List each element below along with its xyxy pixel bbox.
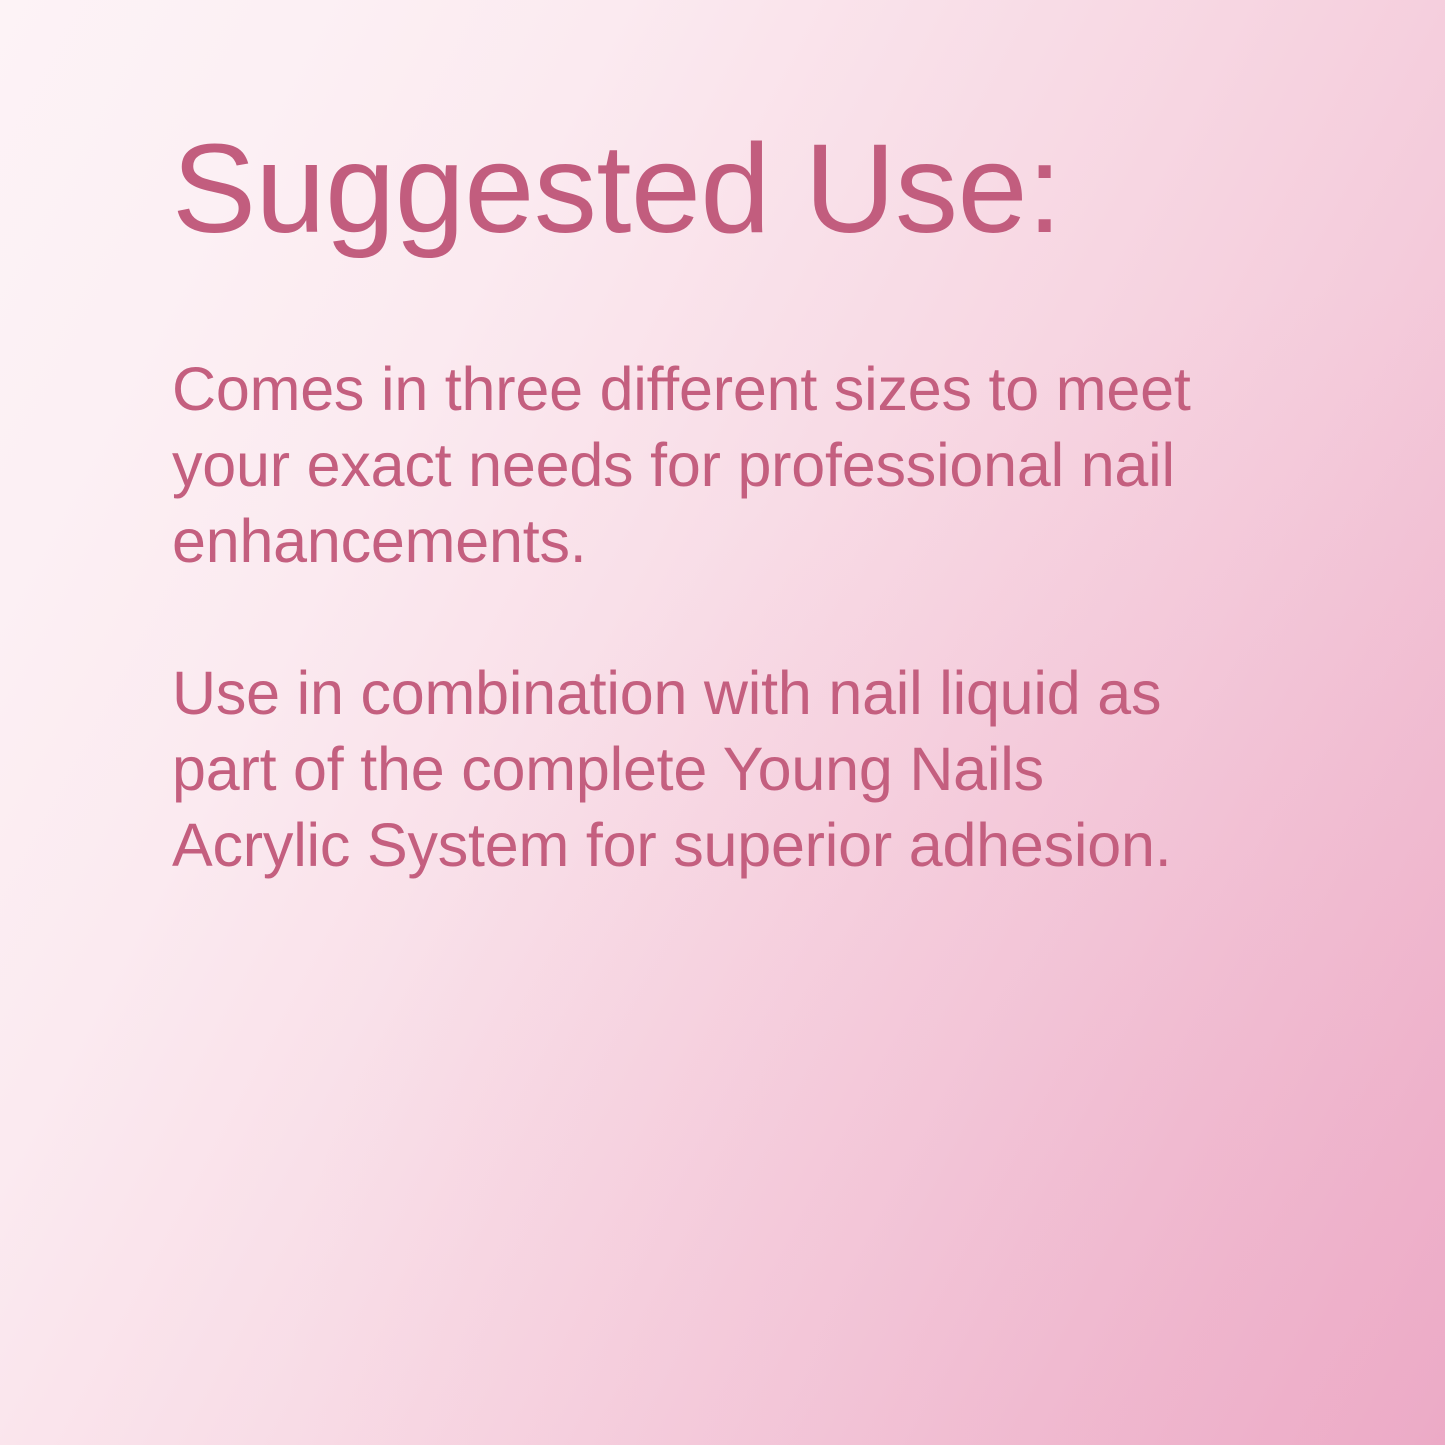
description-paragraph-2: Use in combination with nail liquid as p… <box>172 655 1232 883</box>
page-title: Suggested Use: <box>172 118 1232 259</box>
product-info-canvas: Suggested Use: Comes in three different … <box>0 0 1445 1445</box>
description-paragraph-1: Comes in three different sizes to meet y… <box>172 351 1232 579</box>
content-block: Suggested Use: Comes in three different … <box>172 118 1232 883</box>
description-block: Comes in three different sizes to meet y… <box>172 351 1232 883</box>
